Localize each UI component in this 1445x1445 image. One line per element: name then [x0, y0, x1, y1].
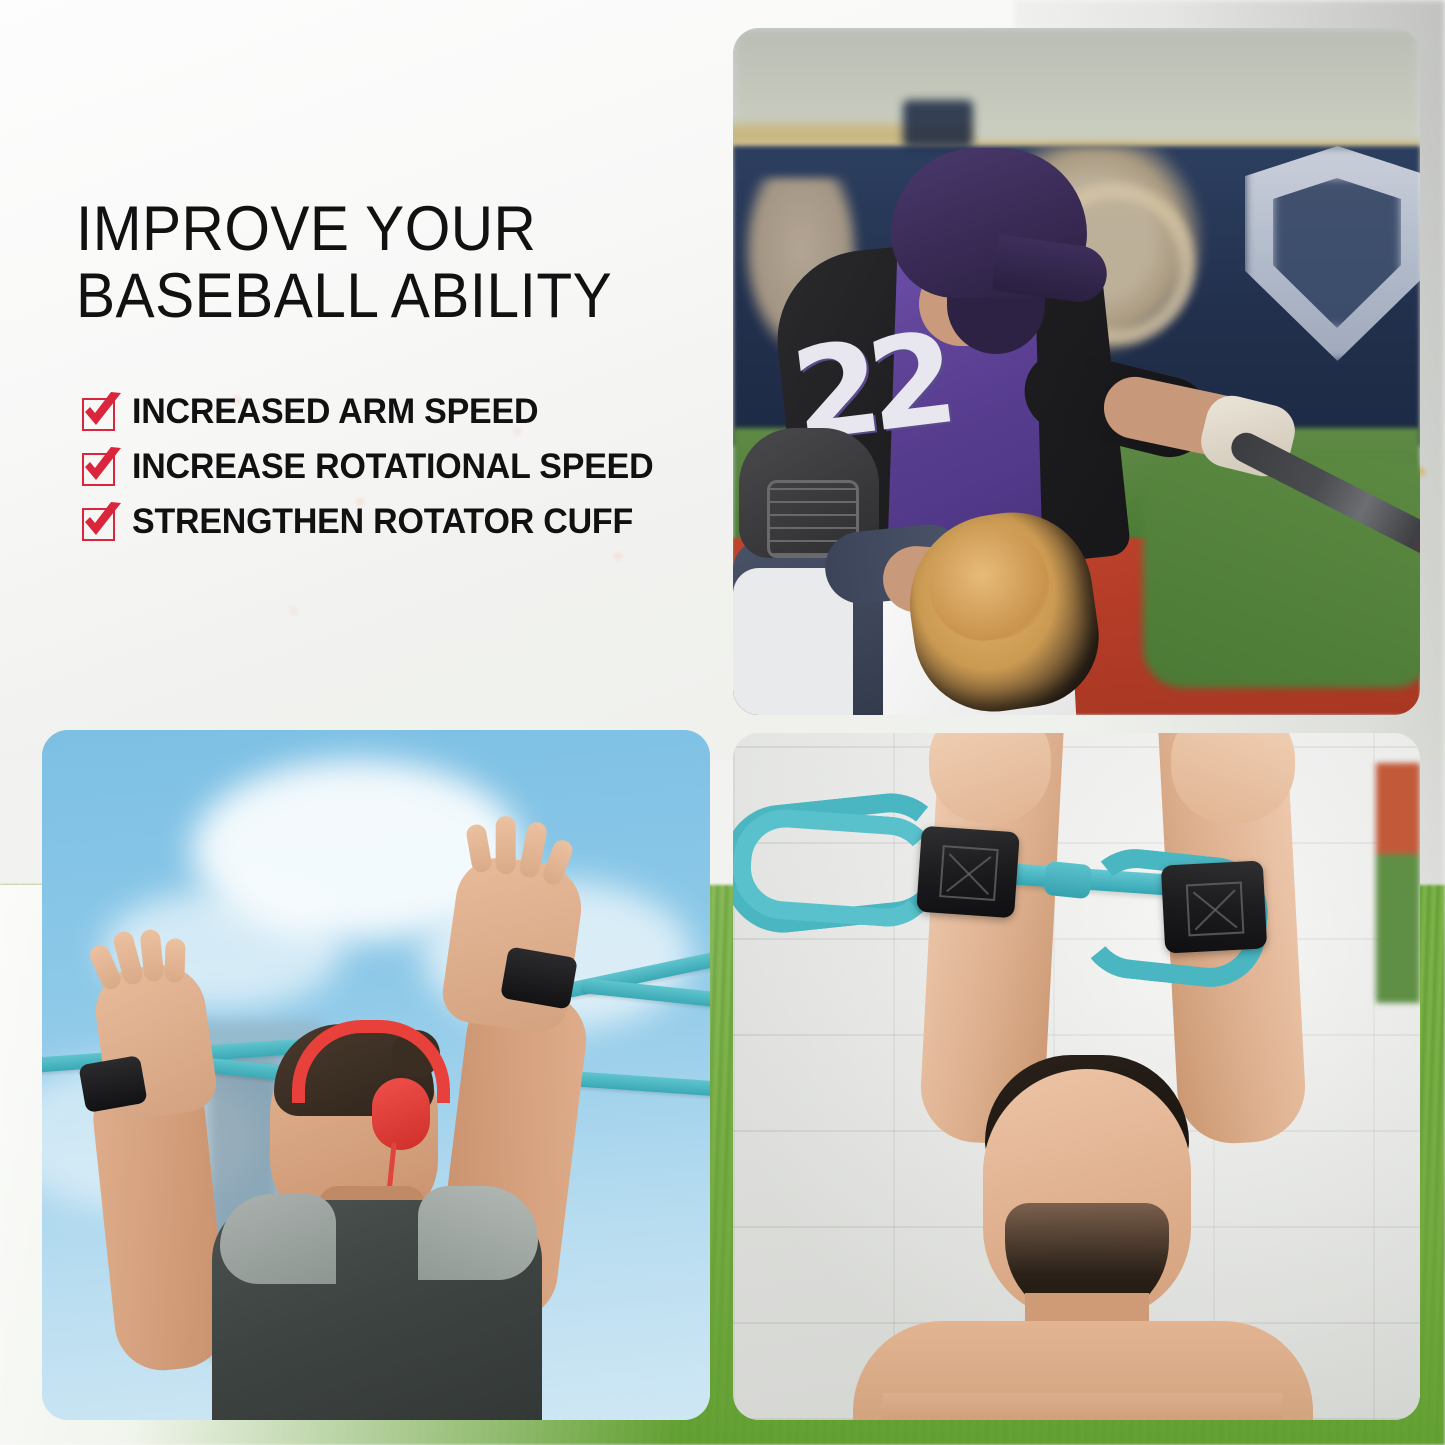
page-title: IMPROVE YOUR BASEBALL ABILITY: [76, 196, 671, 331]
cuff-stitch-x-icon: [1186, 882, 1245, 937]
benefit-label: INCREASE ROTATIONAL SPEED: [132, 447, 653, 487]
background-field-sliver: [1376, 763, 1420, 1003]
red-check-icon: [80, 447, 124, 487]
shirt-shoulder-panel: [418, 1186, 538, 1280]
infield-grass-right: [1143, 458, 1420, 688]
benefit-label: INCREASED ARM SPEED: [132, 392, 538, 432]
red-check-icon: [80, 502, 124, 542]
headphones-earcup: [372, 1078, 430, 1150]
list-item: INCREASED ARM SPEED: [80, 385, 720, 439]
red-check-icon: [80, 392, 124, 432]
benefit-label: STRENGTHEN ROTATOR CUFF: [132, 502, 633, 542]
product-infographic: S IMPROVE YOUR BASEBALL ABILITY INCREASE…: [0, 0, 1445, 1445]
resistance-band-loop: [733, 806, 943, 930]
athlete-right-hand: [439, 852, 587, 1036]
list-item: STRENGTHEN ROTATOR CUFF: [80, 495, 720, 549]
cuff-stitch-x-icon: [939, 845, 998, 901]
baseball-batter-photo: 22: [733, 28, 1420, 715]
shirt-shoulder-panel: [220, 1194, 336, 1284]
wrist-cuffs-overhead-photo: [733, 733, 1420, 1420]
band-center-connector: [1043, 861, 1092, 900]
resistance-band-outdoor-photo: [42, 730, 710, 1420]
wall-logo: [903, 100, 973, 148]
athlete-torso: [883, 1393, 1283, 1420]
wrist-cuff: [1161, 860, 1267, 953]
benefit-list: INCREASED ARM SPEED INCREASE ROTATIONAL …: [80, 385, 720, 550]
wrist-cuff: [916, 826, 1020, 919]
list-item: INCREASE ROTATIONAL SPEED: [80, 440, 720, 494]
